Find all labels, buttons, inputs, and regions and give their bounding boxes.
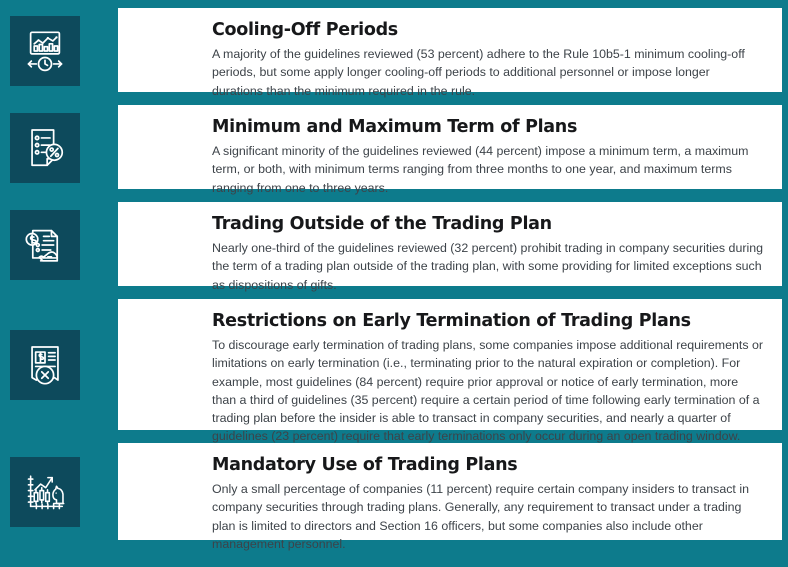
candlestick-chart-knight-icon-tile bbox=[10, 457, 80, 527]
section-description: To discourage early termination of tradi… bbox=[212, 336, 764, 445]
document-checklist-percent-icon-tile bbox=[10, 113, 80, 183]
section-title: Mandatory Use of Trading Plans bbox=[212, 455, 764, 475]
section-card: Mandatory Use of Trading Plans Only a sm… bbox=[118, 443, 782, 540]
section-title: Restrictions on Early Termination of Tra… bbox=[212, 311, 764, 331]
section-text-block: Trading Outside of the Trading Plan Near… bbox=[212, 202, 782, 308]
section-card: Trading Outside of the Trading Plan Near… bbox=[118, 202, 782, 286]
chart-clock-arrows-icon-tile bbox=[10, 16, 80, 86]
section-description: Nearly one-third of the guidelines revie… bbox=[212, 239, 764, 294]
section-description: A significant minority of the guidelines… bbox=[212, 142, 764, 197]
section-title: Cooling-Off Periods bbox=[212, 20, 764, 40]
right-edge-strip bbox=[782, 0, 788, 553]
infographic-page: Cooling-Off Periods A majority of the gu… bbox=[0, 0, 788, 553]
section-text-block: Restrictions on Early Termination of Tra… bbox=[212, 299, 782, 460]
section-card: Minimum and Maximum Term of Plans A sign… bbox=[118, 105, 782, 189]
section-text-block: Minimum and Maximum Term of Plans A sign… bbox=[212, 105, 782, 211]
section-card: Cooling-Off Periods A majority of the gu… bbox=[118, 8, 782, 92]
financial-document-cancel-icon-tile bbox=[10, 330, 80, 400]
section-text-block: Mandatory Use of Trading Plans Only a sm… bbox=[212, 443, 782, 567]
section-text-block: Cooling-Off Periods A majority of the gu… bbox=[212, 8, 782, 114]
financial-document-cancel-icon bbox=[22, 342, 68, 388]
section-title: Trading Outside of the Trading Plan bbox=[212, 214, 764, 234]
section-title: Minimum and Maximum Term of Plans bbox=[212, 117, 764, 137]
document-dollar-hand-icon-tile bbox=[10, 210, 80, 280]
document-checklist-percent-icon bbox=[22, 125, 68, 171]
section-card: Restrictions on Early Termination of Tra… bbox=[118, 299, 782, 430]
chart-clock-arrows-icon bbox=[22, 28, 68, 74]
section-description: A majority of the guidelines reviewed (5… bbox=[212, 45, 764, 100]
candlestick-chart-knight-icon bbox=[22, 469, 68, 515]
section-description: Only a small percentage of companies (11… bbox=[212, 480, 764, 553]
document-dollar-hand-icon bbox=[22, 222, 68, 268]
